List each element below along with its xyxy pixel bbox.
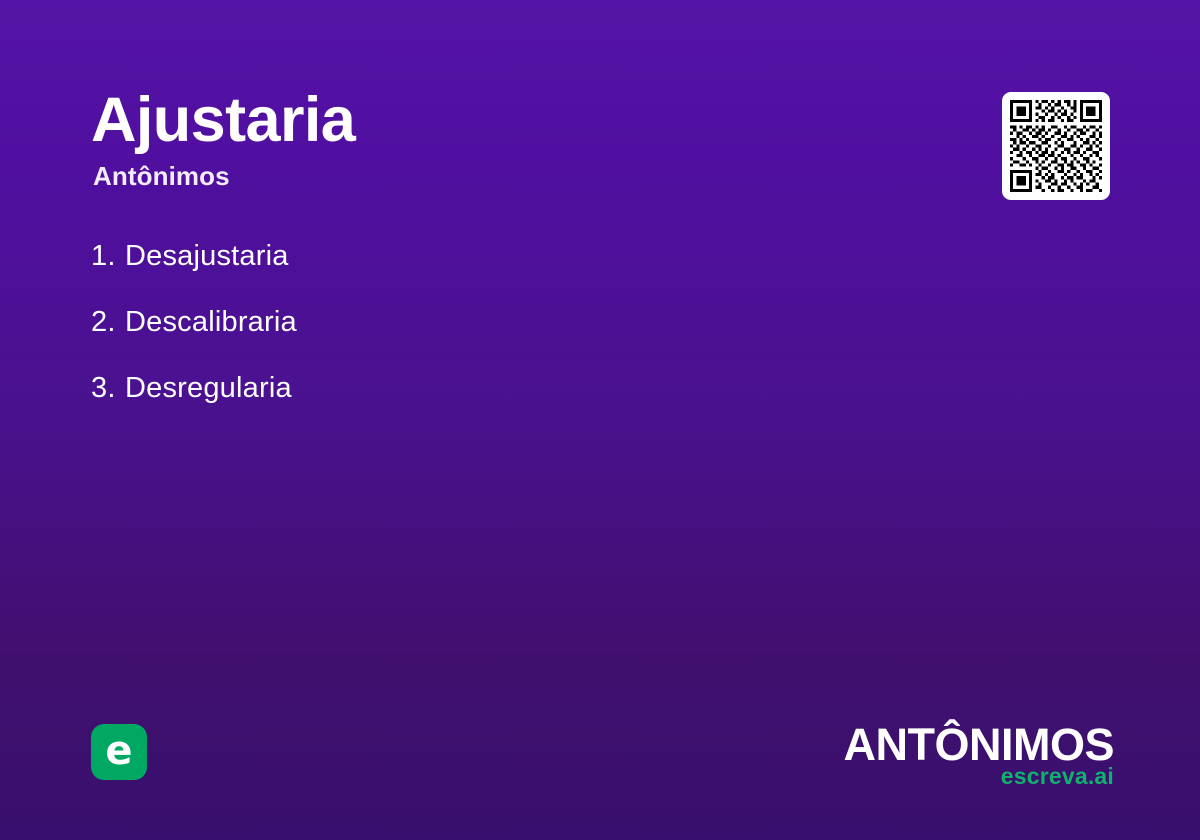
list-item-index: 2. — [91, 302, 125, 342]
list-item-label: Desregularia — [125, 372, 292, 404]
list-item: 1.Desajustaria — [91, 236, 931, 302]
category-label: Antônimos — [93, 162, 911, 191]
list-item: 2.Descalibraria — [91, 302, 931, 368]
list-item: 3.Desregularia — [91, 368, 931, 434]
headline-block: Ajustaria Antônimos — [91, 88, 911, 191]
list-item-index: 1. — [91, 236, 125, 276]
wordmark-title: ANTÔNIMOS — [844, 722, 1115, 768]
brand-badge-letter: e — [91, 724, 147, 780]
list-item-index: 3. — [91, 368, 125, 408]
qr-code-icon[interactable] — [1002, 92, 1110, 200]
escreva-logo-icon[interactable]: e — [91, 724, 147, 780]
page-title: Ajustaria — [91, 88, 911, 152]
list-item-label: Descalibraria — [125, 306, 297, 338]
antonyms-card: Ajustaria Antônimos 1.Desajustaria 2.Des… — [0, 0, 1200, 840]
antonyms-list: 1.Desajustaria 2.Descalibraria 3.Desregu… — [91, 236, 931, 434]
wordmark: ANTÔNIMOS escreva.ai — [844, 722, 1115, 788]
list-item-label: Desajustaria — [125, 240, 289, 272]
qr-code-matrix — [1010, 100, 1102, 192]
